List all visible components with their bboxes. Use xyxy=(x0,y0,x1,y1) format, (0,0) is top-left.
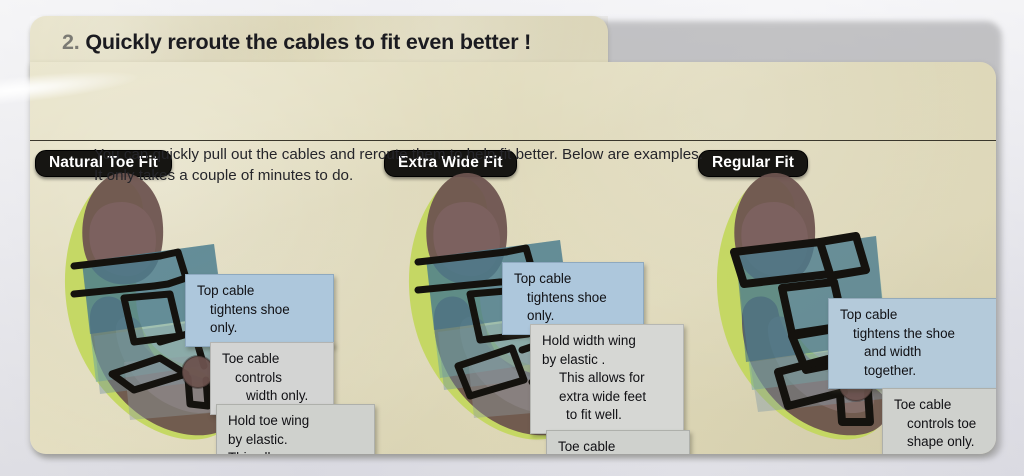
callout-line: Top cable xyxy=(197,282,322,301)
panel-natural-toe-fit: Natural Toe Fit xyxy=(30,140,360,454)
callout-line: only. xyxy=(514,307,632,326)
callout-line: Toe cable xyxy=(558,438,678,454)
callout-line: Top cable xyxy=(514,270,632,289)
section-divider xyxy=(30,140,996,141)
callout-line: by elastic . xyxy=(542,351,672,370)
fit-panels: Natural Toe Fit xyxy=(30,62,996,454)
callout-line: Tighten Lightly! xyxy=(894,452,996,454)
callout-line: This allows for xyxy=(542,369,672,388)
callout-top-cable-natural: Top cable tightens shoe only. xyxy=(185,274,334,347)
callout-toe-cable-extra-wide: Toe cable controls toe shape only. Tight… xyxy=(546,430,690,454)
panel-extra-wide-fit: Extra Wide Fit xyxy=(352,140,682,454)
callout-hold-toe-wing-natural: Hold toe wing by elastic. This allows yo… xyxy=(216,404,375,454)
callout-line: width only. xyxy=(222,387,322,406)
callout-line: extra wide feet xyxy=(542,388,672,407)
panel-regular-fit: Regular Fit xyxy=(670,140,996,454)
callout-line: Top cable xyxy=(840,306,996,325)
callout-toe-cable-regular: Toe cable controls toe shape only. Tight… xyxy=(882,388,996,454)
callout-line: by elastic. xyxy=(228,431,363,450)
intro-line-2: It only takes a couple of minutes to do. xyxy=(94,165,703,186)
callout-line: This allows xyxy=(228,449,363,454)
callout-line: Toe cable xyxy=(222,350,322,369)
callout-line: tightens shoe xyxy=(514,289,632,308)
callout-line: Hold toe wing xyxy=(228,412,363,431)
callout-line: tightens shoe xyxy=(197,301,322,320)
callout-line: controls toe xyxy=(894,415,996,434)
callout-line: Hold width wing xyxy=(542,332,672,351)
heading-text: Quickly reroute the cables to fit even b… xyxy=(85,30,531,54)
heading-number: 2. xyxy=(62,30,80,54)
callout-line: shape only. xyxy=(894,433,996,452)
intro-line-1: You can quickly pull out the cables and … xyxy=(94,144,703,165)
callout-line: tightens the shoe xyxy=(840,325,996,344)
callout-top-cable-regular: Top cable tightens the shoe and width to… xyxy=(828,298,996,389)
callout-line: together. xyxy=(840,362,996,381)
callout-line: controls xyxy=(222,369,322,388)
instruction-card: You can quickly pull out the cables and … xyxy=(30,62,996,454)
callout-line: Toe cable xyxy=(894,396,996,415)
callout-line: to fit well. xyxy=(542,406,672,425)
callout-line: and width xyxy=(840,343,996,362)
callout-hold-width-wing-extra-wide: Hold width wing by elastic . This allows… xyxy=(530,324,684,434)
intro-paragraph: You can quickly pull out the cables and … xyxy=(94,144,703,186)
page-title: 2. Quickly reroute the cables to fit eve… xyxy=(62,30,531,55)
callout-line: only. xyxy=(197,319,322,338)
